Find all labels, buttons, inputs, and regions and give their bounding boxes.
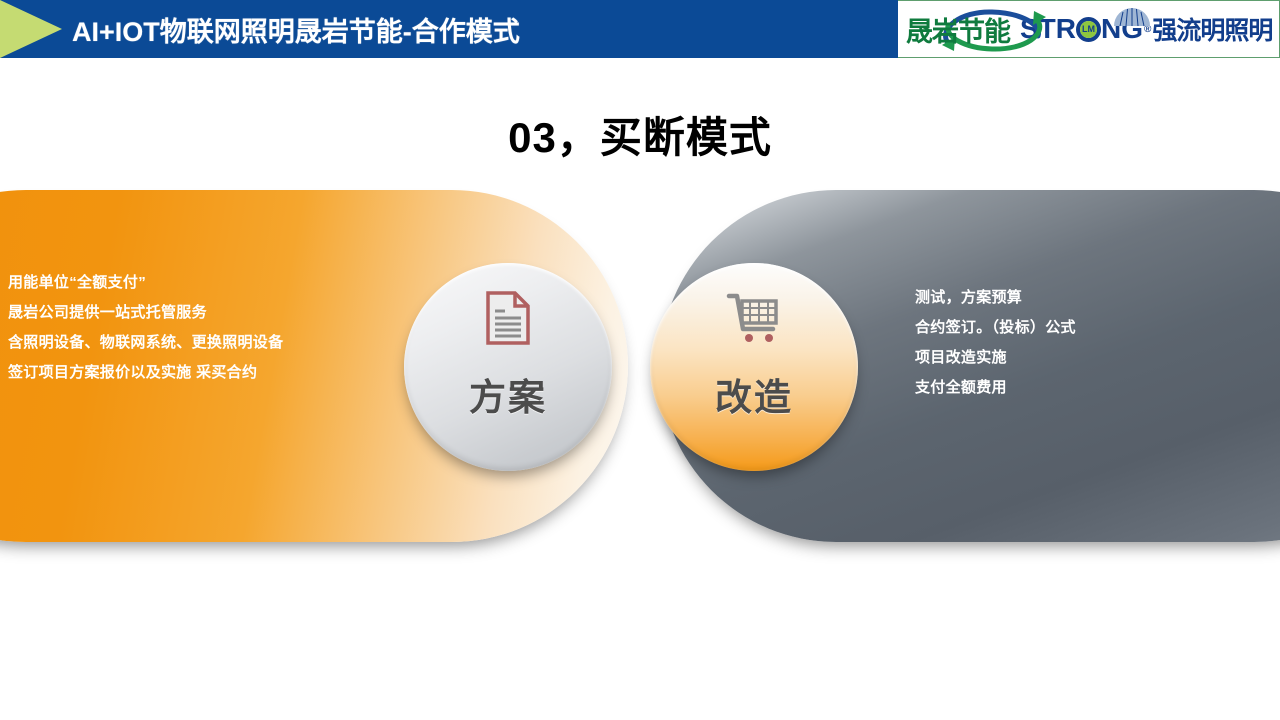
logo-brand-pre: STR (1020, 13, 1076, 44)
logo-o-ring-icon: LM (1076, 17, 1101, 42)
slide-canvas: AI+IOT物联网照明晟岩节能-合作模式 晟岩节能 STRLMNG ® (0, 0, 1280, 720)
left-panel-text: 用能单位“全额支付” 晟岩公司提供一站式托管服务 含照明设备、物联网系统、更换照… (8, 268, 348, 388)
document-icon (485, 289, 531, 347)
circle-plan-label: 方案 (469, 367, 547, 421)
page-title: 03，买断模式 (0, 104, 1280, 165)
left-text-line-4: 签订项目方案报价以及实施 采买合约 (8, 358, 348, 388)
header-title: AI+IOT物联网照明晟岩节能-合作模式 (72, 0, 520, 58)
right-text-line-3: 项目改造实施 (915, 343, 1235, 373)
chevron-icon (0, 0, 62, 58)
shopping-cart-icon (725, 289, 783, 347)
circle-plan[interactable]: 方案 (404, 263, 612, 471)
logo-chinese-tagline: 强流明照明 (1152, 11, 1272, 47)
right-text-line-4: 支付全额费用 (915, 373, 1235, 403)
header-bar: AI+IOT物联网照明晟岩节能-合作模式 (0, 0, 898, 58)
right-text-line-2: 合约签订。（投标）公式 (915, 313, 1235, 343)
logo-chinese-name: 晟岩节能 (906, 10, 1010, 49)
circle-retrofit[interactable]: 改造 (650, 263, 858, 471)
right-panel-text: 测试，方案预算 合约签订。（投标）公式 项目改造实施 支付全额费用 (915, 283, 1235, 403)
fan-icon (1112, 5, 1152, 27)
left-text-line-3: 含照明设备、物联网系统、更换照明设备 (8, 328, 348, 358)
circle-retrofit-label: 改造 (715, 367, 793, 421)
left-text-line-1: 用能单位“全额支付” (8, 268, 348, 298)
left-text-line-2: 晟岩公司提供一站式托管服务 (8, 298, 348, 328)
logo-ring-text: LM (1080, 21, 1097, 38)
right-text-line-1: 测试，方案预算 (915, 283, 1235, 313)
company-logo: 晟岩节能 STRLMNG ® 强流明照明 (898, 0, 1280, 58)
